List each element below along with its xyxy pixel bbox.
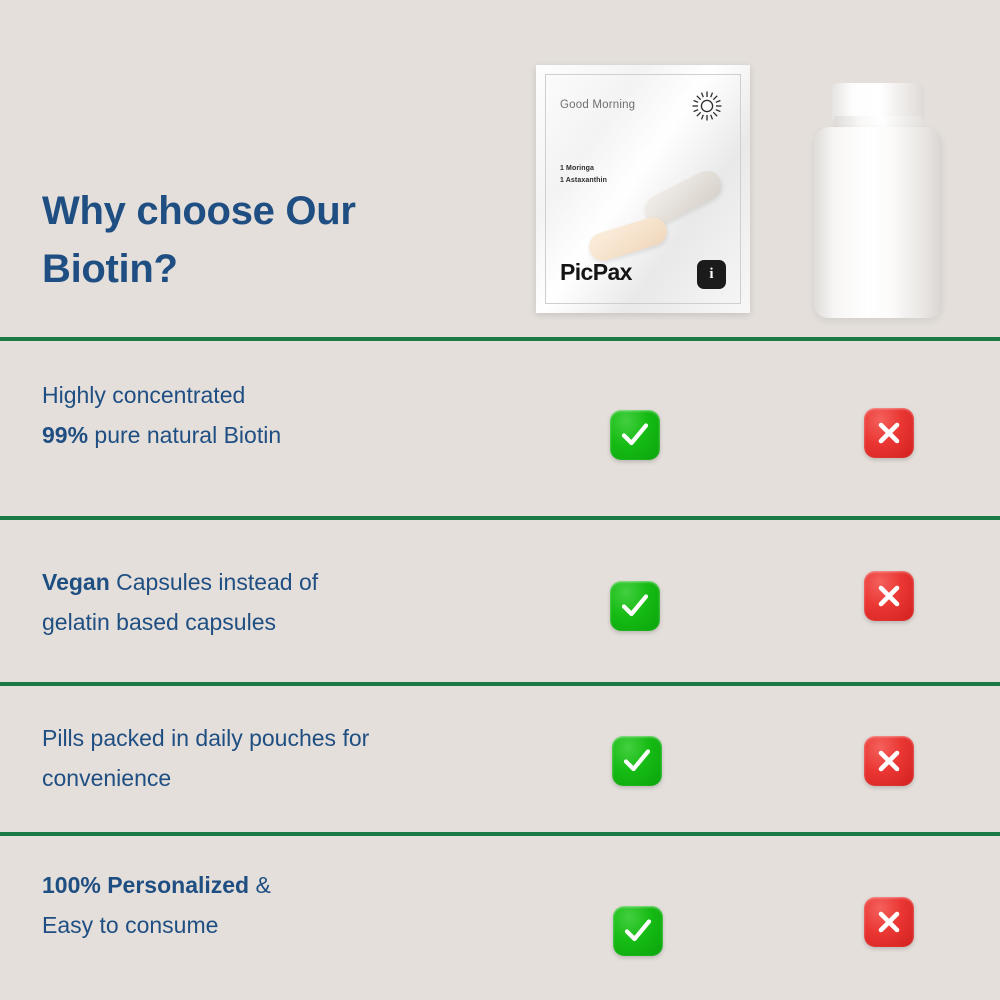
check-glyph <box>618 589 652 623</box>
row-line-1: Capsules instead of <box>110 569 318 595</box>
row-line-1: Pills packed in daily pouches for <box>42 725 369 751</box>
check-glyph <box>618 418 652 452</box>
product-sachet: Good Morning <box>536 65 750 313</box>
row-line-1-emphasis: 100% Personalized <box>42 872 249 898</box>
sachet-ingredient-item: 1 Moringa <box>560 163 607 175</box>
sachet-inner-frame: Good Morning <box>545 74 741 304</box>
comparison-row-label: Vegan Capsules instead of gelatin based … <box>42 563 542 642</box>
row-line-2: gelatin based capsules <box>42 609 276 635</box>
row-line-2-emphasis: 99% <box>42 422 88 448</box>
cross-mark-icon <box>864 736 914 786</box>
row-divider <box>0 516 1000 520</box>
check-mark-icon <box>610 581 660 631</box>
row-line-2: Easy to consume <box>42 912 218 938</box>
row-line-2: convenience <box>42 765 171 791</box>
row-line-1: & <box>249 872 271 898</box>
row-line-2: pure natural Biotin <box>88 422 281 448</box>
cross-glyph <box>874 746 904 776</box>
check-mark-icon <box>610 410 660 460</box>
product-bottle <box>812 83 944 318</box>
check-glyph <box>620 744 654 778</box>
brand-logo: PicPax <box>560 259 632 286</box>
sachet-ingredient-item: 1 Astaxanthin <box>560 175 607 187</box>
check-glyph <box>621 914 655 948</box>
row-divider <box>0 682 1000 686</box>
row-divider <box>0 337 1000 341</box>
comparison-infographic: Why choose Our Biotin? Good Morning <box>0 0 1000 1000</box>
sachet-greeting: Good Morning <box>560 99 635 111</box>
comparison-row-label: Pills packed in daily pouches for conven… <box>42 719 542 798</box>
page-title-line-2: Biotin? <box>42 247 178 291</box>
page-title: Why choose Our Biotin? <box>42 182 472 298</box>
cross-glyph <box>874 418 904 448</box>
bottle-body <box>814 127 942 318</box>
info-badge-icon: i <box>697 260 726 289</box>
cross-mark-icon <box>864 408 914 458</box>
cross-glyph <box>874 907 904 937</box>
page-title-line-1: Why choose Our <box>42 189 356 233</box>
row-divider <box>0 832 1000 836</box>
sun-icon <box>690 89 724 123</box>
sachet-ingredient-list: 1 Moringa 1 Astaxanthin <box>560 163 607 186</box>
capsule-cream <box>586 214 671 264</box>
cross-mark-icon <box>864 571 914 621</box>
cross-glyph <box>874 581 904 611</box>
check-mark-icon <box>612 736 662 786</box>
check-mark-icon <box>613 906 663 956</box>
product-imagery: Good Morning <box>520 55 980 330</box>
row-line-1-emphasis: Vegan <box>42 569 110 595</box>
comparison-row-label: Highly concentrated 99% pure natural Bio… <box>42 376 542 455</box>
cross-mark-icon <box>864 897 914 947</box>
comparison-row-label: 100% Personalized & Easy to consume <box>42 866 542 945</box>
row-line-1: Highly concentrated <box>42 382 245 408</box>
